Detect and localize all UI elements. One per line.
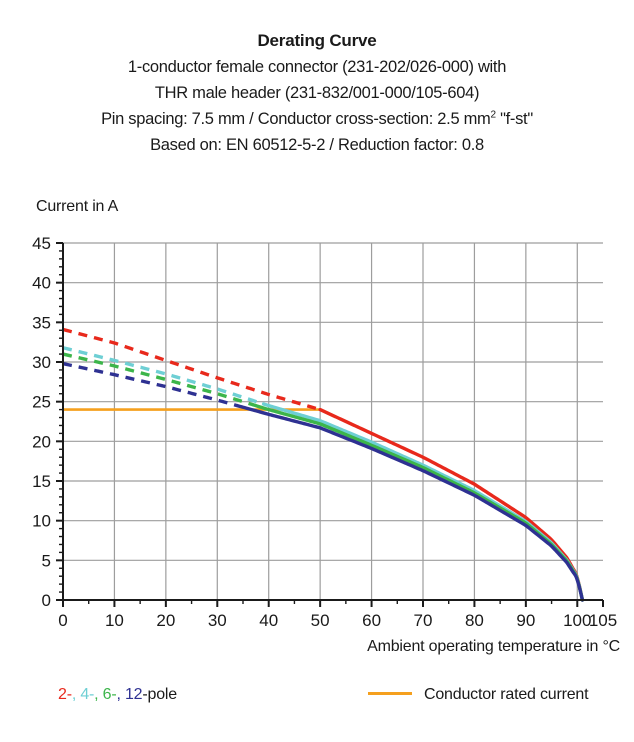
series-line-6-pole bbox=[253, 405, 582, 600]
x-tick-label: 100 bbox=[563, 611, 591, 630]
x-tick-label: 70 bbox=[414, 611, 433, 630]
legend-rated-label: Conductor rated current bbox=[424, 686, 588, 703]
x-tick-label: 60 bbox=[362, 611, 381, 630]
x-tick-label: 20 bbox=[156, 611, 175, 630]
x-tick-label: 0 bbox=[58, 611, 67, 630]
y-tick-label: 30 bbox=[32, 353, 51, 372]
x-tick-label: 105 bbox=[589, 611, 617, 630]
y-tick-label: 20 bbox=[32, 432, 51, 451]
y-tick-label: 0 bbox=[42, 591, 51, 610]
series-line-dashed-4-pole bbox=[63, 348, 264, 404]
x-tick-label: 80 bbox=[465, 611, 484, 630]
series-group bbox=[63, 329, 582, 600]
y-tick-label: 15 bbox=[32, 472, 51, 491]
derating-curve-plot: 0510152025303540450102030405060708090100… bbox=[0, 0, 634, 680]
axes bbox=[63, 243, 603, 600]
y-tick-label: 5 bbox=[42, 551, 51, 570]
x-tick-label: 40 bbox=[259, 611, 278, 630]
grid-lines bbox=[63, 243, 603, 600]
legend-item-6-pole: 6- bbox=[103, 686, 117, 703]
y-tick-label: 40 bbox=[32, 274, 51, 293]
tick-marks: 0510152025303540450102030405060708090100… bbox=[32, 234, 617, 630]
series-line-dashed-2-pole bbox=[63, 329, 320, 409]
y-tick-label: 35 bbox=[32, 313, 51, 332]
legend-poles: 2-, 4-, 6-, 12-pole bbox=[58, 686, 177, 704]
chart-area: 0510152025303540450102030405060708090100… bbox=[0, 0, 634, 680]
legend-swatch-rated-current bbox=[368, 692, 412, 695]
legend-sep-3: , bbox=[116, 686, 125, 703]
legend-pole-suffix: -pole bbox=[142, 686, 177, 703]
legend-item-4-pole: 4- bbox=[80, 686, 94, 703]
series-line-dashed-12-pole bbox=[63, 364, 243, 408]
x-tick-label: 50 bbox=[311, 611, 330, 630]
x-tick-label: 10 bbox=[105, 611, 124, 630]
legend-sep-2: , bbox=[94, 686, 103, 703]
chart-legend: 2-, 4-, 6-, 12-pole Conductor rated curr… bbox=[0, 686, 634, 716]
series-line-12-pole bbox=[243, 407, 582, 600]
legend-item-2-pole: 2- bbox=[58, 686, 72, 703]
legend-item-12-pole: 12 bbox=[125, 686, 142, 703]
x-tick-label: 30 bbox=[208, 611, 227, 630]
legend-rated-current: Conductor rated current bbox=[368, 686, 588, 704]
y-tick-label: 45 bbox=[32, 234, 51, 253]
y-tick-label: 25 bbox=[32, 393, 51, 412]
x-tick-label: 90 bbox=[516, 611, 535, 630]
y-tick-label: 10 bbox=[32, 512, 51, 531]
